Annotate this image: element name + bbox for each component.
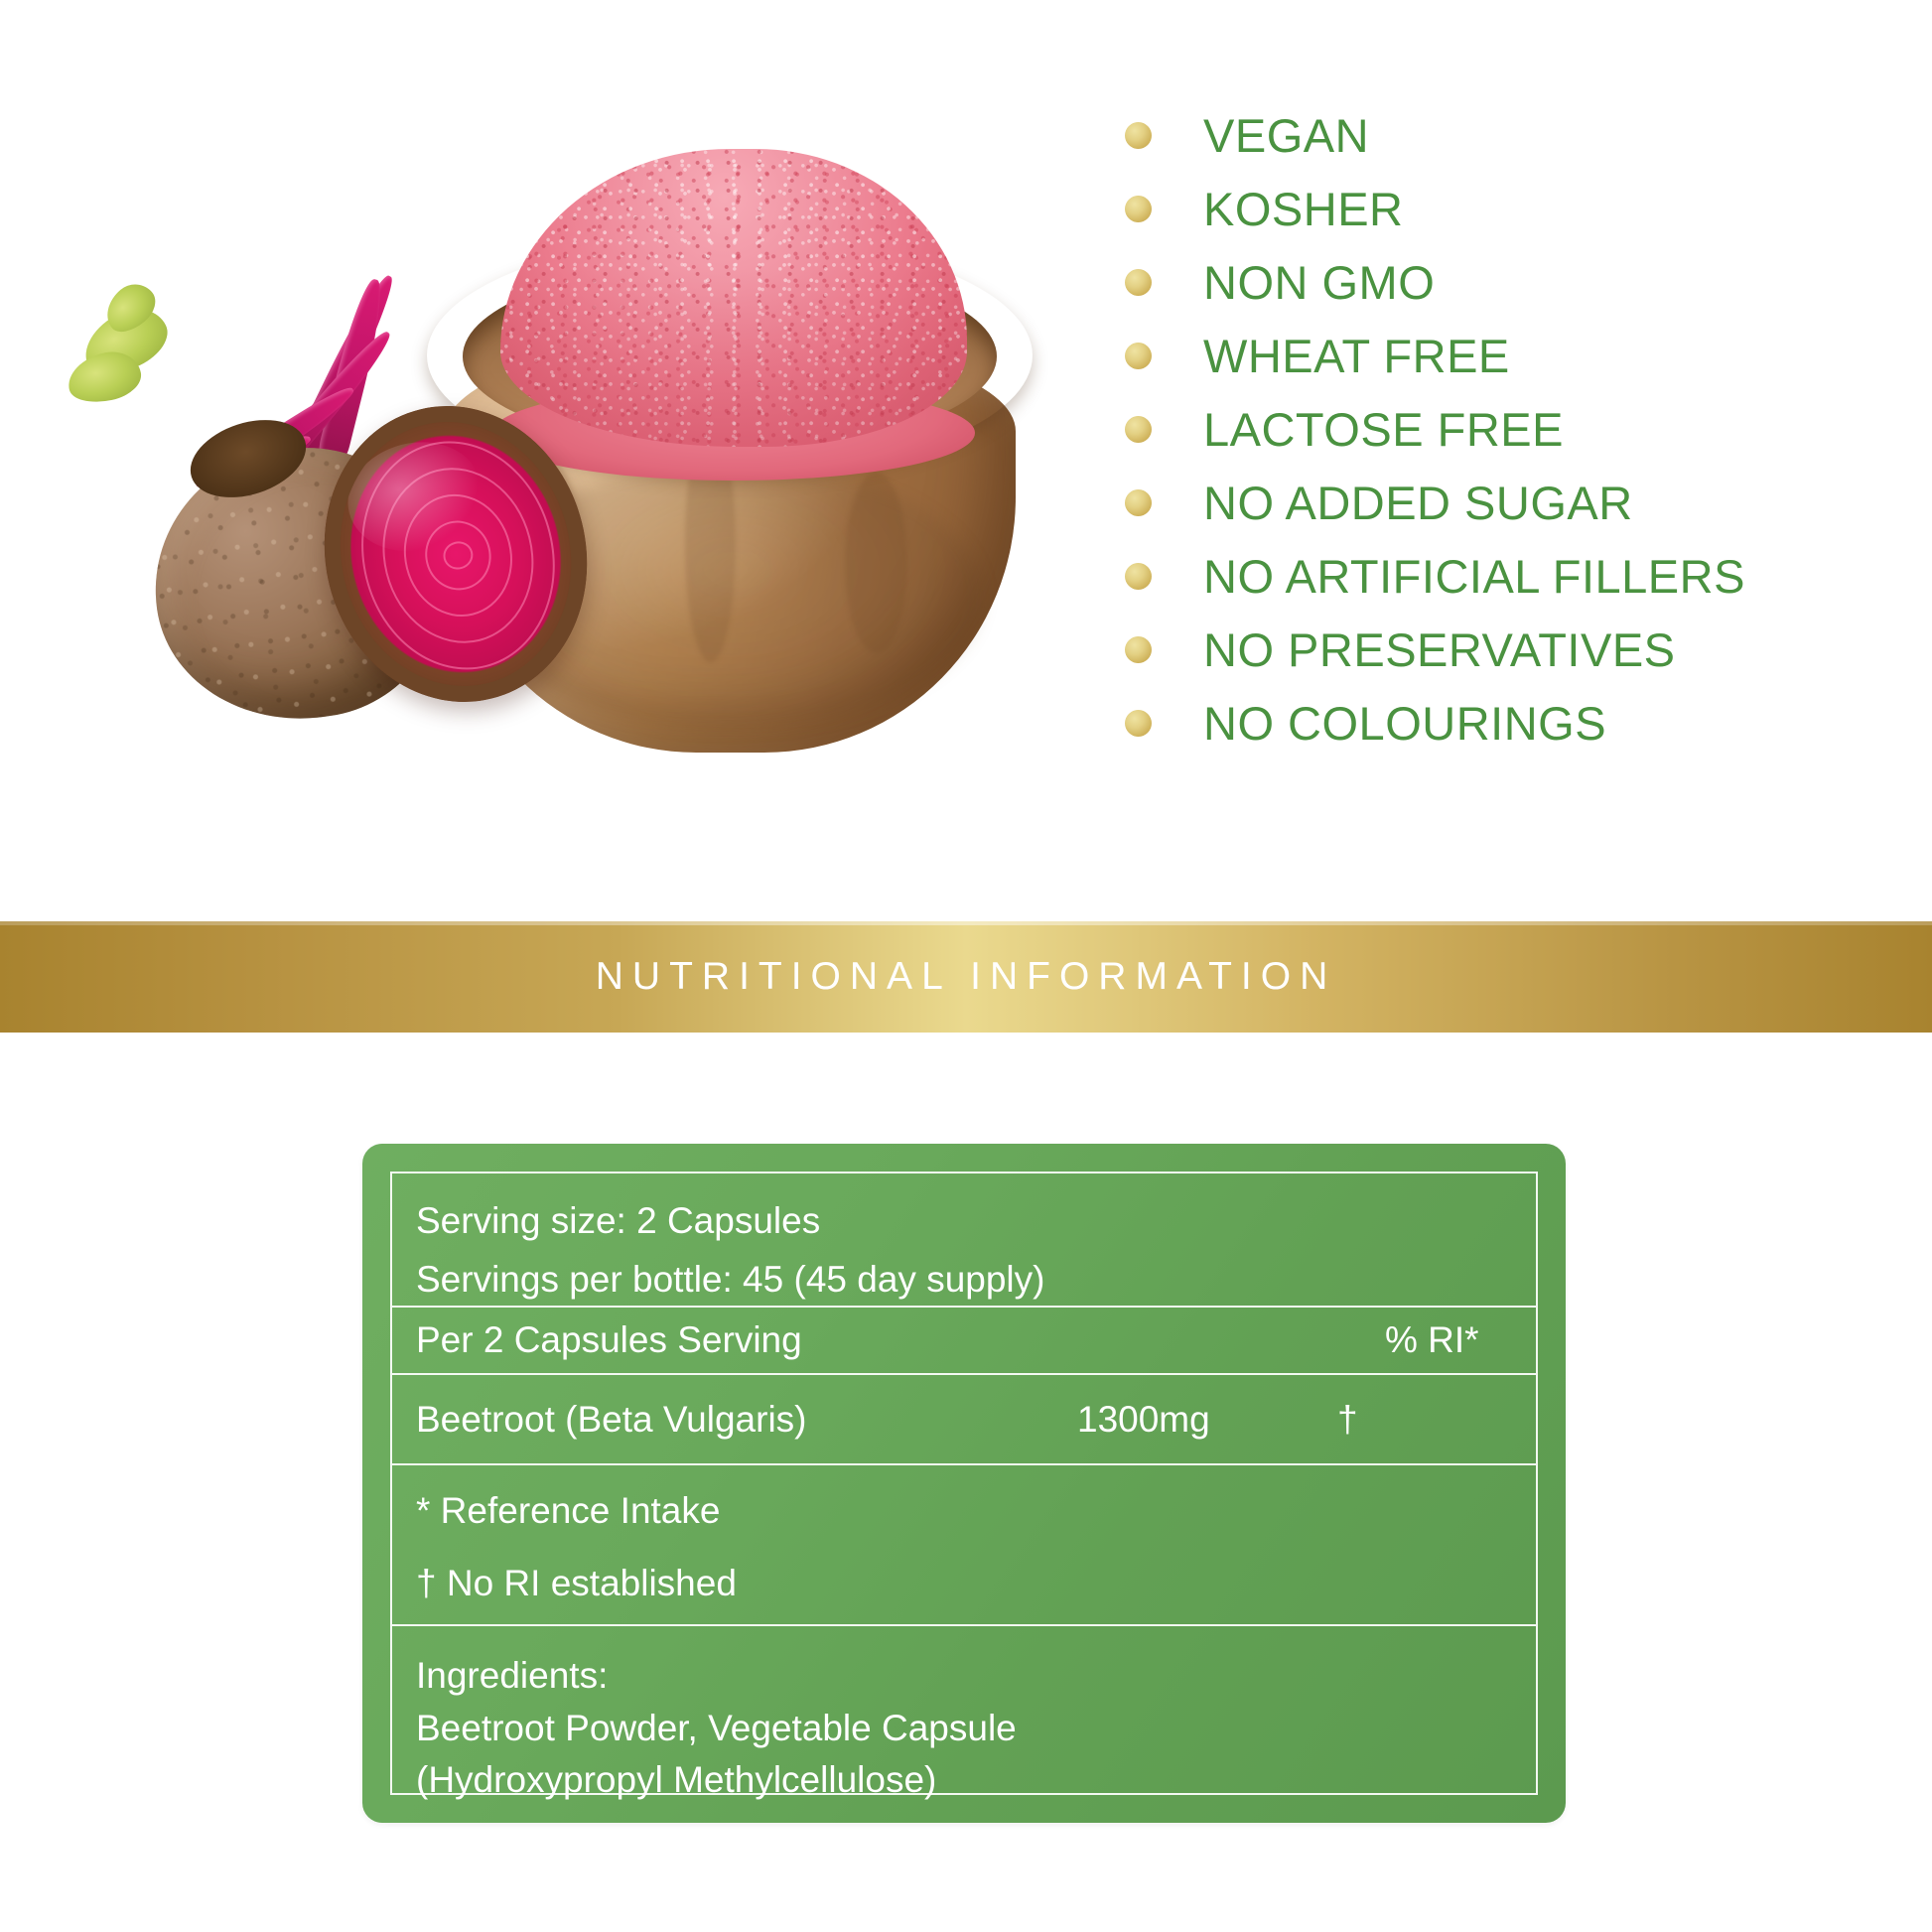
benefit-label: VEGAN [1203,108,1369,163]
benefit-item-vegan: VEGAN [1125,104,1879,166]
bullet-dot-icon [1125,563,1152,590]
serving-block: Serving size: 2 Capsules Servings per bo… [392,1195,1536,1306]
bullet-dot-icon [1125,710,1152,737]
bullet-dot-icon [1125,343,1152,369]
bullet-dot-icon [1125,416,1152,443]
benefit-item-no-artificial-fillers: NO ARTIFICIAL FILLERS [1125,545,1879,607]
servings-per-bottle-text: Servings per bottle: 45 (45 day supply) [416,1254,1536,1307]
benefit-label: KOSHER [1203,182,1404,236]
nutritional-information-banner: NUTRITIONAL INFORMATION [0,921,1932,1033]
nutrition-inner-border: Serving size: 2 Capsules Servings per bo… [390,1172,1538,1795]
benefit-label: NO COLOURINGS [1203,696,1606,751]
ingredients-block: Ingredients: Beetroot Powder, Vegetable … [392,1624,1536,1807]
bullet-dot-icon [1125,489,1152,516]
benefit-label: NO ARTIFICIAL FILLERS [1203,549,1745,604]
ingredient-amount-row: Beetroot (Beta Vulgaris) 1300mg † [392,1373,1536,1463]
benefit-label: NON GMO [1203,255,1435,310]
footnote-reference-intake: * Reference Intake [416,1485,1536,1538]
benefit-label: NO PRESERVATIVES [1203,622,1676,677]
ingredients-line-2: (Hydroxypropyl Methylcellulose) [416,1754,1536,1807]
ingredient-name: Beetroot (Beta Vulgaris) [416,1399,807,1441]
benefit-item-kosher: KOSHER [1125,178,1879,239]
benefit-item-lactose-free: LACTOSE FREE [1125,398,1879,460]
serving-size-text: Serving size: 2 Capsules [416,1195,1536,1248]
top-section: VEGAN KOSHER NON GMO WHEAT FREE LACTOSE … [0,0,1932,921]
banner-title: NUTRITIONAL INFORMATION [596,955,1337,999]
bullet-dot-icon [1125,636,1152,663]
beetroot-powder [500,149,967,447]
footnote-no-ri: † No RI established [416,1558,1536,1610]
ingredients-line-1: Beetroot Powder, Vegetable Capsule [416,1703,1536,1755]
ingredient-ri-value: † [1337,1399,1358,1441]
benefit-item-no-colourings: NO COLOURINGS [1125,692,1879,754]
ingredient-amount: 1300mg [1077,1399,1210,1441]
benefit-item-no-preservatives: NO PRESERVATIVES [1125,619,1879,680]
bullet-dot-icon [1125,122,1152,149]
header-serving-label: Per 2 Capsules Serving [416,1319,802,1361]
benefit-label: WHEAT FREE [1203,329,1510,383]
table-header-row: Per 2 Capsules Serving % RI* [392,1306,1536,1373]
nutrition-facts-card: Serving size: 2 Capsules Servings per bo… [362,1144,1566,1823]
benefit-label: NO ADDED SUGAR [1203,476,1633,530]
footnotes-block: * Reference Intake † No RI established [392,1463,1536,1624]
benefit-label: LACTOSE FREE [1203,402,1564,457]
header-ri-label: % RI* [1385,1319,1479,1361]
benefits-list: VEGAN KOSHER NON GMO WHEAT FREE LACTOSE … [1125,104,1879,765]
product-photo [60,228,1062,794]
ingredients-title: Ingredients: [416,1650,1536,1703]
benefit-item-non-gmo: NON GMO [1125,251,1879,313]
benefit-item-no-added-sugar: NO ADDED SUGAR [1125,472,1879,533]
bullet-dot-icon [1125,269,1152,296]
bullet-dot-icon [1125,196,1152,222]
benefit-item-wheat-free: WHEAT FREE [1125,325,1879,386]
